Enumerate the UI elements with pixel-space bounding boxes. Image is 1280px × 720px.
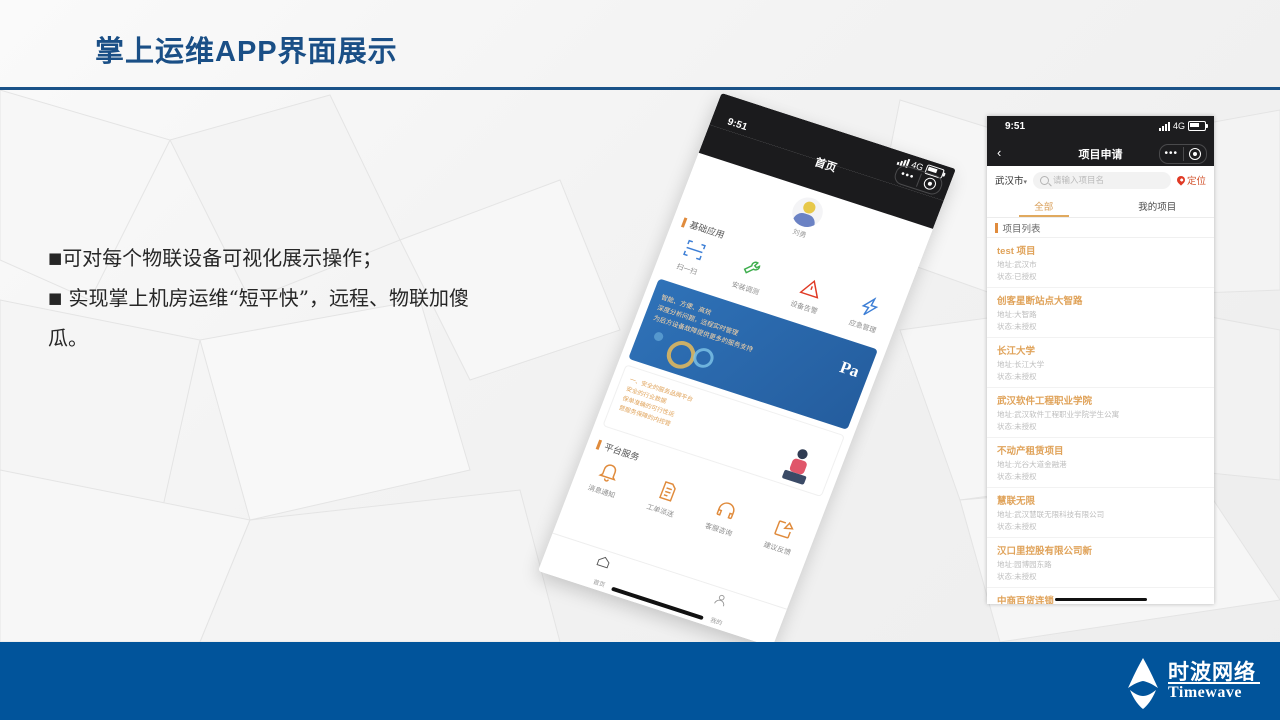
network-label: 4G: [1173, 121, 1185, 131]
person-illustration-icon: [778, 442, 821, 489]
bullet-item: ■ 实现掌上机房运维“短平快”，远程、物联加傻: [48, 278, 568, 318]
bullet-text: 可对每个物联设备可视化展示操作；: [62, 246, 382, 270]
service-label: 建议反馈: [762, 540, 792, 558]
project-name: 汉口里控股有限公司新: [997, 543, 1206, 557]
project-name: 创客星断站点大智路: [997, 293, 1206, 307]
project-name: 长江大学: [997, 343, 1206, 357]
project-status: 状态:未授权: [997, 471, 1206, 483]
search-placeholder: 请输入项目名: [1053, 174, 1104, 186]
home-indicator: [1055, 598, 1147, 602]
warning-triangle-icon: [797, 274, 826, 301]
tab-label: 全部: [1034, 199, 1053, 213]
service-label: 消息通知: [586, 483, 616, 501]
project-address: 地址:武汉慧联无限科技有限公司: [997, 509, 1206, 521]
close-target-icon[interactable]: [917, 175, 943, 193]
list-item[interactable]: test 项目 地址:武汉市 状态:已授权: [987, 238, 1214, 288]
project-list: test 项目 地址:武汉市 状态:已授权 创客星断站点大智路 地址:大智路 状…: [987, 238, 1214, 604]
project-address: 地址:园博园东路: [997, 559, 1206, 571]
avatar[interactable]: [788, 193, 827, 230]
project-address: 地址:光谷大道金融港: [997, 459, 1206, 471]
company-logo: 时波网络 Timewave: [1122, 652, 1262, 712]
project-status: 状态:未授权: [997, 321, 1206, 333]
list-item[interactable]: 汉口里控股有限公司新 地址:园博园东路 状态:未授权: [987, 538, 1214, 588]
filter-tabs: 全部 我的项目: [987, 194, 1214, 218]
slide-header: 掌上运维APP界面展示: [0, 0, 1280, 90]
bullet-item: 瓜。: [48, 318, 568, 358]
edit-square-icon: [770, 516, 799, 543]
app-label: 设备告警: [789, 299, 819, 317]
bullet-square-icon: ■: [48, 249, 62, 267]
close-target-icon[interactable]: [1184, 148, 1207, 160]
bullet-list: ■可对每个物联设备可视化展示操作； ■ 实现掌上机房运维“短平快”，远程、物联加…: [48, 238, 568, 358]
phone-screen-home: 9:51 4G 首页 ••• 刘勇 基础应用: [538, 93, 956, 647]
tab-home[interactable]: 首页: [538, 534, 669, 609]
nav-bar: ‹ 项目申请 •••: [987, 140, 1214, 166]
bullet-text: 实现掌上机房运维“短平快”，远程、物联加傻: [62, 286, 469, 310]
title-divider: [0, 87, 1280, 90]
project-status: 状态:已授权: [997, 271, 1206, 283]
chevron-down-icon: ▾: [1024, 179, 1028, 186]
list-item[interactable]: 武汉软件工程职业学院 地址:武汉软件工程职业学院学生公寓 状态:未授权: [987, 388, 1214, 438]
timewave-mark-icon: [1122, 656, 1164, 710]
list-item[interactable]: 长江大学 地址:长江大学 状态:未授权: [987, 338, 1214, 388]
search-input[interactable]: 请输入项目名: [1033, 172, 1171, 189]
tab-label: 我的: [709, 614, 724, 626]
service-label: 客服咨询: [703, 521, 733, 539]
location-pin-icon: [1175, 174, 1186, 185]
document-icon: [653, 478, 682, 505]
bell-icon: [595, 458, 624, 485]
bullet-text: 瓜。: [48, 326, 88, 350]
project-address: 地址:长江大学: [997, 359, 1206, 371]
battery-icon: [1188, 121, 1206, 131]
project-address: 地址:武汉市: [997, 259, 1206, 271]
banner-dot-decor: [653, 331, 665, 342]
project-name: 不动产租赁项目: [997, 443, 1206, 457]
headset-icon: [712, 497, 741, 524]
scan-icon: [680, 236, 709, 263]
search-bar: 武汉市▾ 请输入项目名 定位: [987, 166, 1214, 194]
search-icon: [1040, 176, 1049, 185]
signal-icon: [1159, 122, 1170, 131]
list-item[interactable]: 慧联无限 地址:武汉慧联无限科技有限公司 状态:未授权: [987, 488, 1214, 538]
project-status: 状态:未授权: [997, 521, 1206, 533]
phone-screen-project-apply: 9:51 4G ‹ 项目申请 ••• 武汉市▾ 请输入项目名 定位 全部 我的项…: [987, 116, 1214, 604]
project-address: 地址:武汉软件工程职业学院学生公寓: [997, 409, 1206, 421]
tab-my-projects[interactable]: 我的项目: [1101, 194, 1215, 217]
project-status: 状态:未授权: [997, 371, 1206, 383]
app-label: 扫一扫: [675, 262, 699, 278]
section-bar-icon: [681, 217, 687, 227]
status-bar: 9:51 4G: [987, 116, 1214, 140]
page-title: 掌上运维APP界面展示: [95, 28, 398, 70]
tab-label: 我的项目: [1138, 199, 1176, 213]
tab-all[interactable]: 全部: [987, 194, 1101, 217]
lightning-icon: [856, 293, 885, 320]
list-item[interactable]: 不动产租赁项目 地址:光谷大道金融港 状态:未授权: [987, 438, 1214, 488]
project-status: 状态:未授权: [997, 571, 1206, 583]
list-item[interactable]: 创客星断站点大智路 地址:大智路 状态:未授权: [987, 288, 1214, 338]
app-label: 应急管理: [847, 318, 877, 336]
logo-text-en: Timewave: [1168, 684, 1242, 702]
city-selector[interactable]: 武汉市▾: [995, 173, 1027, 187]
bullet-square-icon: ■: [48, 289, 62, 307]
status-indicators: 4G: [1159, 121, 1206, 131]
status-time: 9:51: [1005, 121, 1025, 132]
city-label: 武汉市: [995, 176, 1024, 187]
app-label: 安装调测: [730, 280, 760, 298]
bullet-item: ■可对每个物联设备可视化展示操作；: [48, 238, 568, 278]
section-bar-icon: [995, 223, 998, 233]
tab-label: 首页: [592, 576, 607, 588]
mini-program-capsule[interactable]: •••: [1159, 144, 1207, 164]
locate-label: 定位: [1187, 173, 1206, 187]
banner-brand: Pa: [837, 357, 862, 382]
list-section-header: 项目列表: [987, 218, 1214, 238]
wrench-green-icon: [738, 255, 767, 282]
project-address: 地址:大智路: [997, 309, 1206, 321]
locate-button[interactable]: 定位: [1177, 173, 1206, 187]
project-name: 慧联无限: [997, 493, 1206, 507]
user-name: 刘勇: [791, 226, 808, 240]
project-name: test 项目: [997, 243, 1206, 257]
more-icon[interactable]: •••: [1160, 149, 1183, 159]
service-label: 工单派送: [645, 502, 675, 520]
slide-footer: [0, 642, 1280, 720]
project-status: 状态:未授权: [997, 421, 1206, 433]
project-name: 武汉软件工程职业学院: [997, 393, 1206, 407]
section-bar-icon: [596, 439, 602, 449]
list-item[interactable]: 中商百货连锁 地址:FGN(中商百货店) 状态:未授权: [987, 588, 1214, 604]
list-header-label: 项目列表: [1003, 221, 1041, 235]
phone-mockup-home: 9:51 4G 首页 ••• 刘勇 基础应用: [546, 96, 966, 656]
secondary-card-text: 一、安全的服务品牌平台 安全的行业数据 保单准确的可行性运 营服务保障的内控管: [617, 375, 694, 433]
